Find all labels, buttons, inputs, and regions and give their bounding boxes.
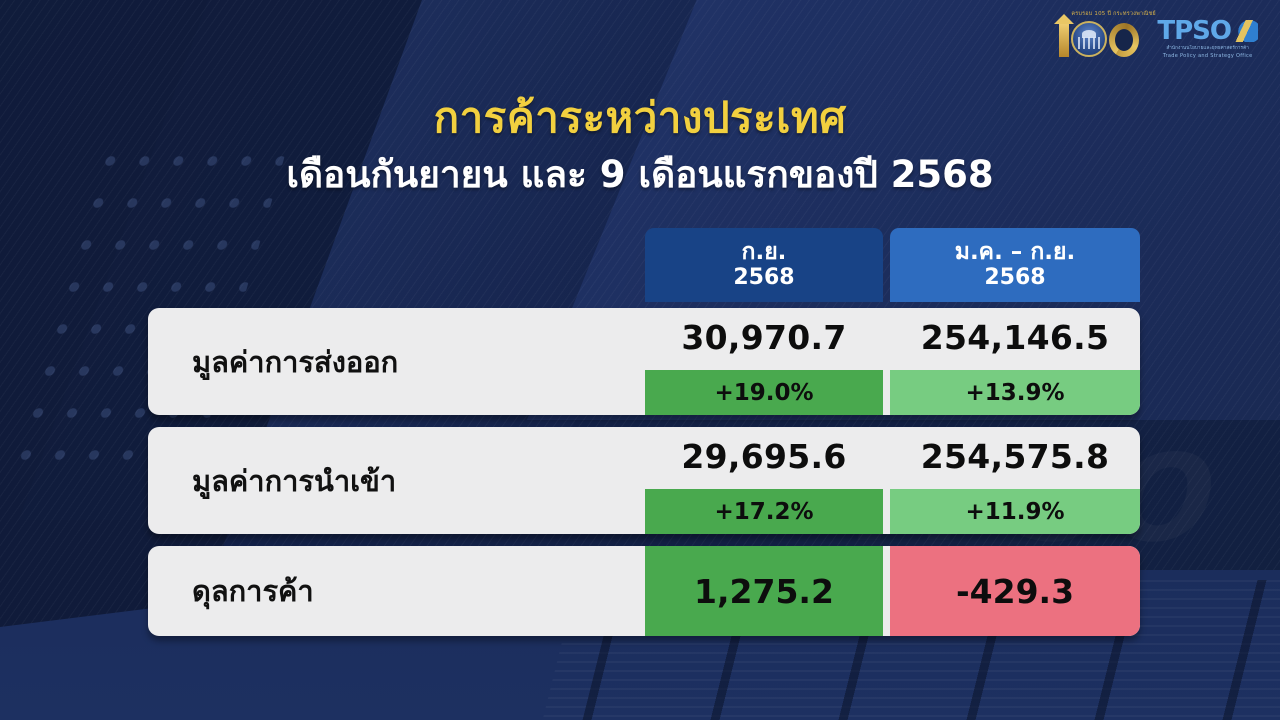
table-row-trade-balance: ดุลการค้า 1,275.2 -429.3 [148,546,1140,636]
tpso-logo: TPSO สำนักงานนโยบายและยุทธศาสตร์การค้า T… [1157,18,1258,59]
column-header-jan-sep-line2: 2568 [984,266,1045,290]
tpso-thai-name: สำนักงานนโยบายและยุทธศาสตร์การค้า [1166,45,1249,52]
row-label-exports: มูลค่าการส่งออก [192,339,398,385]
table-row-imports: มูลค่าการนำเข้า 29,695.6 +17.2% 254,575.… [148,427,1140,534]
column-header-september-line1: ก.ย. [742,240,787,265]
page-title: การค้าระหว่างประเทศ [0,85,1280,151]
tpso-english-name: Trade Policy and Strategy Office [1163,53,1253,59]
pct-exports-september: +19.0% [645,370,883,415]
column-header-jan-sep-line1: ม.ค. – ก.ย. [955,240,1075,265]
column-header-jan-sep: ม.ค. – ก.ย. 2568 [890,228,1140,302]
pct-imports-september: +17.2% [645,489,883,534]
value-balance-jan-sep: -429.3 [890,546,1140,636]
column-header-september: ก.ย. 2568 [645,228,883,302]
ministry-building-icon [1071,21,1107,57]
cell-exports-september: 30,970.7 +19.0% [645,308,883,415]
logo-bar: ครบรอบ 105 ปี กระทรวงพาณิชย์ TPSO สำนักง… [1059,18,1258,59]
cell-imports-september: 29,695.6 +17.2% [645,427,883,534]
value-balance-september: 1,275.2 [645,546,883,636]
table-row-exports: มูลค่าการส่งออก 30,970.7 +19.0% 254,146.… [148,308,1140,415]
column-header-september-line2: 2568 [733,266,794,290]
row-label-trade-balance: ดุลการค้า [192,568,314,614]
page-subtitle: เดือนกันยายน และ 9 เดือนแรกของปี 2568 [0,145,1280,204]
anniversary-105-logo: ครบรอบ 105 ปี กระทรวงพาณิชย์ [1059,21,1139,57]
value-exports-jan-sep: 254,146.5 [921,318,1110,357]
row-label-imports: มูลค่าการนำเข้า [192,458,396,504]
value-exports-september: 30,970.7 [681,318,846,357]
infographic-slide: TPSO ครบรอบ 105 ปี กระทรวงพาณิชย์ TPSO ส… [0,0,1280,720]
digit-one-icon [1059,23,1069,57]
digit-five-icon [1109,23,1139,57]
anniversary-caption: ครบรอบ 105 ปี กระทรวงพาณิชย์ [1071,11,1155,18]
cell-imports-jan-sep: 254,575.8 +11.9% [890,427,1140,534]
cell-exports-jan-sep: 254,146.5 +13.9% [890,308,1140,415]
pct-exports-jan-sep: +13.9% [890,370,1140,415]
value-imports-september: 29,695.6 [681,437,846,476]
tpso-wordmark: TPSO [1157,18,1231,44]
tpso-mark: TPSO [1157,18,1258,44]
pct-imports-jan-sep: +11.9% [890,489,1140,534]
tpso-swoosh-icon [1228,20,1258,42]
value-imports-jan-sep: 254,575.8 [921,437,1110,476]
